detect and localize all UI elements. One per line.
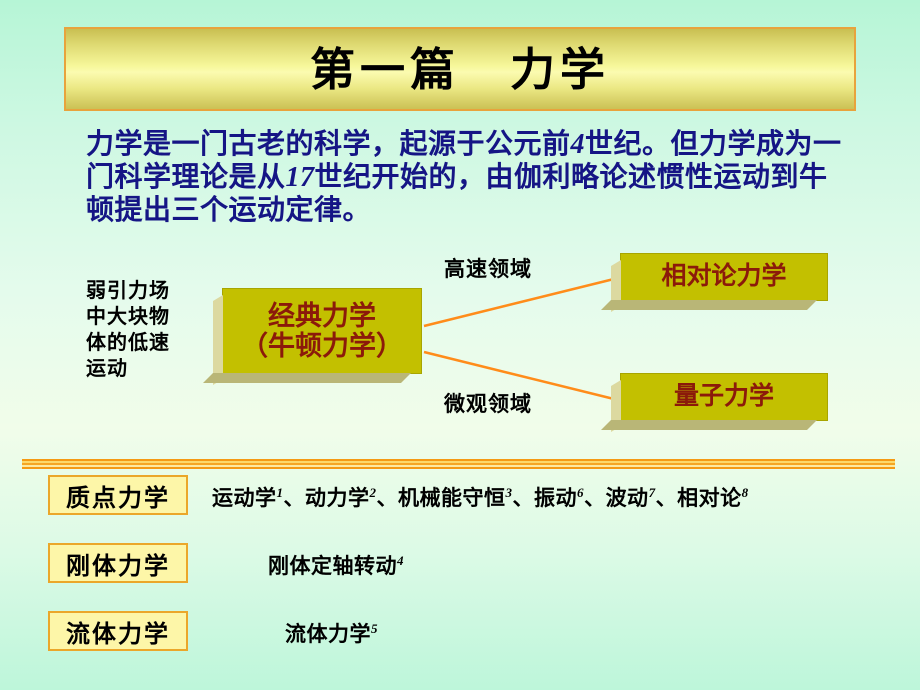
page-title: 第一篇 力学 bbox=[310, 47, 610, 92]
topic-separator: 、 bbox=[377, 486, 399, 510]
box-relativistic-mechanics: 相对论力学 bbox=[620, 253, 828, 301]
box-quantum-mechanics: 量子力学 bbox=[620, 373, 828, 421]
category-chip-rigid-body-mechanics: 刚体力学 bbox=[48, 543, 188, 583]
topic-separator: 、 bbox=[284, 486, 306, 510]
list-item: 刚体力学 刚体定轴转动4 bbox=[0, 543, 920, 611]
topic-items-particle-mechanics: 运动学1、动力学2、机械能守恒3、振动6、波动7、相对论8 bbox=[212, 482, 749, 512]
topic-item-superscript: 7 bbox=[649, 485, 656, 500]
topic-item-superscript: 4 bbox=[397, 553, 404, 568]
topic-item-superscript: 5 bbox=[371, 621, 378, 636]
divider-stripe bbox=[22, 467, 895, 469]
topic-item: 动力学2 bbox=[305, 486, 377, 510]
weak-field-note: 弱引力场 中大块物 体的低速 运动 bbox=[86, 278, 198, 382]
topic-item: 机械能守恒3 bbox=[398, 486, 513, 510]
intro-number: 17 bbox=[286, 162, 315, 193]
category-chip-fluid-mechanics: 流体力学 bbox=[48, 611, 188, 651]
topic-separator: 、 bbox=[656, 486, 678, 510]
topic-item-superscript: 3 bbox=[506, 485, 513, 500]
title-banner: 第一篇 力学 bbox=[64, 27, 856, 111]
topic-item: 运动学1 bbox=[212, 486, 284, 510]
section-divider bbox=[22, 459, 895, 469]
intro-paragraph: 力学是一门古老的科学，起源于公元前4世纪。但力学成为一门科学理论是从17世纪开始… bbox=[86, 128, 846, 227]
topic-list: 质点力学 运动学1、动力学2、机械能守恒3、振动6、波动7、相对论8 刚体力学 … bbox=[0, 475, 920, 679]
topic-item: 流体力学5 bbox=[285, 622, 378, 646]
topic-item: 相对论8 bbox=[677, 486, 749, 510]
list-item: 质点力学 运动学1、动力学2、机械能守恒3、振动6、波动7、相对论8 bbox=[0, 475, 920, 543]
topic-item-superscript: 8 bbox=[742, 485, 749, 500]
topic-item-superscript: 1 bbox=[277, 485, 284, 500]
topic-items-rigid-body-mechanics: 刚体定轴转动4 bbox=[268, 550, 404, 580]
topic-item: 波动7 bbox=[606, 486, 656, 510]
topic-item-superscript: 6 bbox=[577, 485, 584, 500]
category-chip-particle-mechanics: 质点力学 bbox=[48, 475, 188, 515]
topic-item: 刚体定轴转动4 bbox=[268, 554, 404, 578]
topic-item-superscript: 2 bbox=[370, 485, 377, 500]
edge-label-microscopic: 微观领域 bbox=[444, 388, 532, 418]
intro-number: 4 bbox=[571, 129, 586, 160]
topic-separator: 、 bbox=[584, 486, 606, 510]
topic-items-fluid-mechanics: 流体力学5 bbox=[285, 618, 378, 648]
topic-item: 振动6 bbox=[534, 486, 584, 510]
mechanics-branch-diagram: 弱引力场 中大块物 体的低速 运动 经典力学 （牛顿力学） 高速领域 相对论力学… bbox=[0, 240, 920, 440]
box-classical-mechanics: 经典力学 （牛顿力学） bbox=[222, 288, 422, 374]
edge-label-high-speed: 高速领域 bbox=[444, 253, 532, 283]
connector-to-relativistic bbox=[424, 278, 618, 326]
list-item: 流体力学 流体力学5 bbox=[0, 611, 920, 679]
topic-separator: 、 bbox=[513, 486, 535, 510]
slide-canvas: 第一篇 力学 力学是一门古老的科学，起源于公元前4世纪。但力学成为一门科学理论是… bbox=[0, 0, 920, 690]
